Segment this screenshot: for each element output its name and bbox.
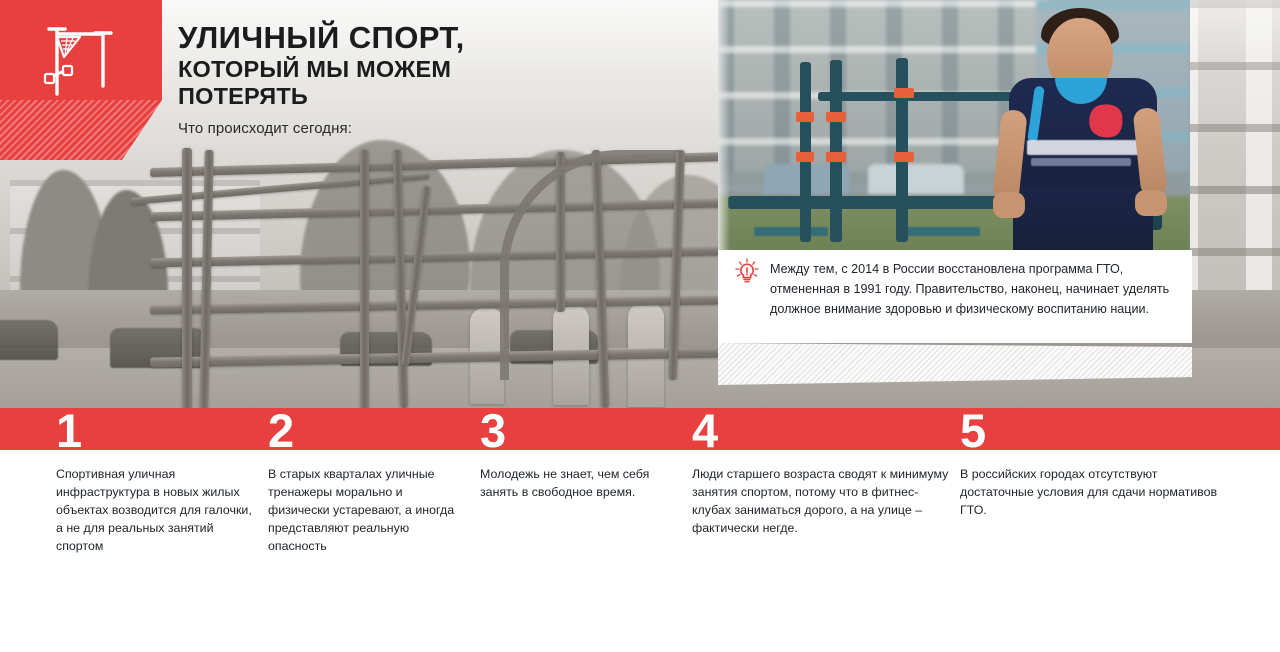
item-number: 3 xyxy=(480,407,666,454)
pullup-bar-hoop-dumbbell-icon xyxy=(40,24,126,98)
callout-box: Между тем, с 2014 в России восстановлена… xyxy=(718,250,1192,385)
item-text: Молодежь не знает, чем себя занять в сво… xyxy=(480,466,666,502)
item-text: Спортивная уличная инфраструктура в новы… xyxy=(56,466,256,556)
list-item: 2 В старых кварталах уличные тренажеры м… xyxy=(268,408,464,556)
photo-gym-bar xyxy=(896,58,908,242)
boy-figure xyxy=(969,0,1184,258)
slide-subtitle: Что происходит сегодня: xyxy=(178,120,352,137)
boy-left-hand xyxy=(993,192,1025,218)
photo-gym-marker xyxy=(796,112,814,122)
boy-shirt-text xyxy=(1027,140,1139,155)
photo-gym-marker xyxy=(826,112,846,122)
item-number: 1 xyxy=(56,407,256,454)
boy-photo xyxy=(718,0,1190,258)
boy-right-hand xyxy=(1135,190,1167,216)
title-line-3: ПОТЕРЯТЬ xyxy=(178,83,465,109)
list-item: 3 Молодежь не знает, чем себя занять в с… xyxy=(480,408,666,502)
photo-gym-marker xyxy=(894,152,914,162)
problem-list: 1 Спортивная уличная инфраструктура в но… xyxy=(0,408,1280,578)
callout-body: Между тем, с 2014 в России восстановлена… xyxy=(718,250,1192,343)
boy-shirt-subtext xyxy=(1031,158,1131,166)
list-item: 5 В российских городах отсутствуют доста… xyxy=(960,408,1228,520)
lightbulb-icon xyxy=(734,258,760,286)
logo-panel xyxy=(0,0,162,160)
item-number: 2 xyxy=(268,407,464,454)
item-number: 5 xyxy=(960,407,1228,454)
callout-text: Между тем, с 2014 в России восстановлена… xyxy=(770,260,1170,320)
photo-gym-marker xyxy=(796,152,814,162)
item-text: В старых кварталах уличные тренажеры мор… xyxy=(268,466,464,556)
item-text: Люди старшего возраста сводят к минимуму… xyxy=(692,466,950,538)
callout-striped-footer xyxy=(718,343,1192,385)
slide-title: УЛИЧНЫЙ СПОРТ, КОТОРЫЙ МЫ МОЖЕМ ПОТЕРЯТЬ xyxy=(178,22,465,109)
boy-shorts xyxy=(1013,186,1153,258)
presentation-slide: УЛИЧНЫЙ СПОРТ, КОТОРЫЙ МЫ МОЖЕМ ПОТЕРЯТЬ… xyxy=(0,0,1280,652)
photo-gym-bar xyxy=(830,60,842,242)
title-line-2: КОТОРЫЙ МЫ МОЖЕМ xyxy=(178,56,465,82)
title-line-1: УЛИЧНЫЙ СПОРТ, xyxy=(178,22,465,54)
list-item: 4 Люди старшего возраста сводят к миниму… xyxy=(692,408,950,538)
photo-left-fade xyxy=(718,0,730,258)
photo-gym-marker xyxy=(894,88,914,98)
item-number: 4 xyxy=(692,407,950,454)
logo-panel-stripes xyxy=(0,100,162,160)
item-text: В российских городах отсутствуют достато… xyxy=(960,466,1228,520)
photo-car xyxy=(868,164,964,194)
photo-bench xyxy=(754,227,828,236)
list-item: 1 Спортивная уличная инфраструктура в но… xyxy=(56,408,256,556)
photo-gym-marker xyxy=(826,152,846,162)
slide-footer: 2 SPORTMEN.RU 69-69-69 3 xyxy=(0,590,1280,652)
